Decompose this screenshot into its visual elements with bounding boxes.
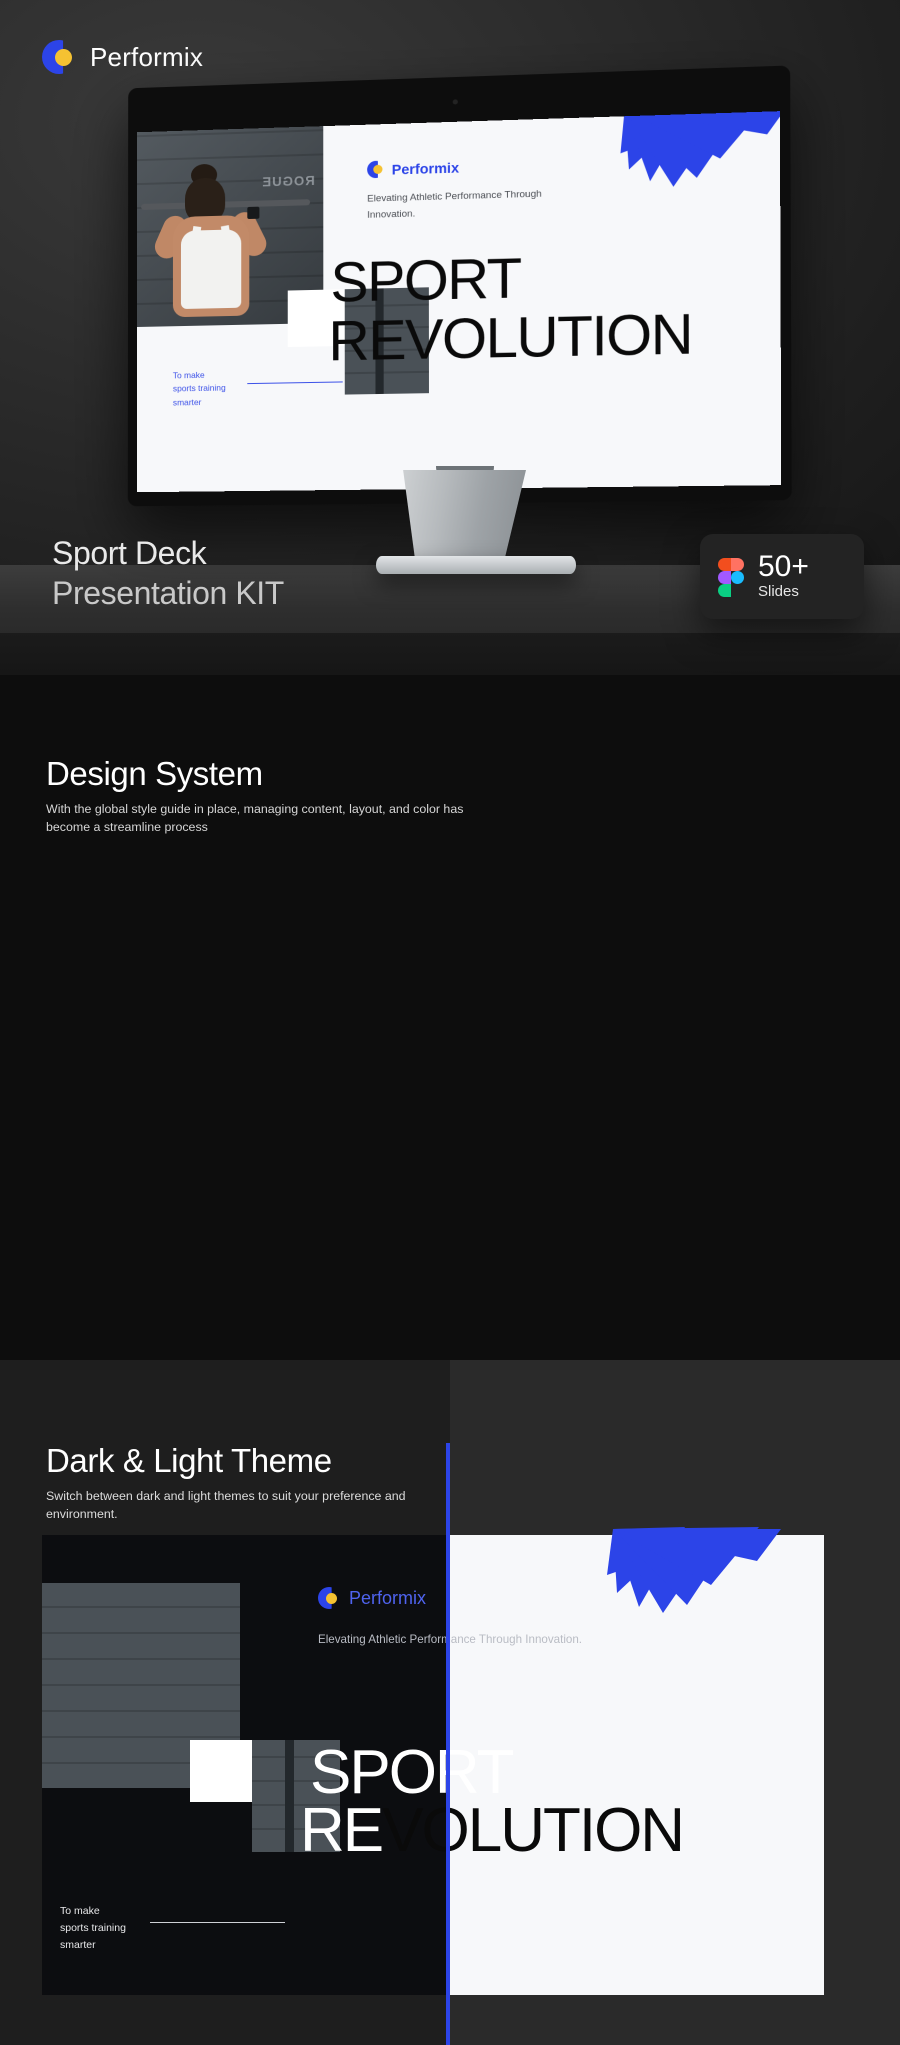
presentation-kit-page: Performix: [0, 0, 900, 2045]
theme-split-divider: [446, 1443, 450, 2045]
hero-section: Performix: [0, 0, 900, 675]
slides-count-badge: 50+ Slides: [700, 534, 864, 619]
accent-square-bar: [285, 1740, 294, 1852]
split-slide-headline-line1: SPORT: [310, 1743, 512, 1804]
performix-logo-icon: [318, 1587, 340, 1609]
headline-dark-part: RE: [300, 1796, 382, 1865]
performix-logo-icon-small: [367, 161, 384, 179]
split-slide-headline-line2: REVOLUTION: [300, 1801, 683, 1862]
rack-brand-text: ROGUE: [262, 173, 315, 190]
slide-kicker-rule: [247, 381, 342, 384]
slides-count: 50+: [758, 552, 809, 582]
theme-subtitle: Switch between dark and light themes to …: [46, 1488, 446, 1523]
design-system-subtitle: With the global style guide in place, ma…: [46, 801, 506, 836]
kicker-line-1: To make: [60, 1905, 100, 1917]
monitor-screen: ROGUE Performix Elevating Athletic Perfo…: [137, 111, 781, 492]
monitor-mockup: ROGUE Performix Elevating Athletic Perfo…: [128, 88, 768, 508]
monitor-stand-base: [376, 556, 576, 574]
design-system-title: Design System: [46, 755, 263, 793]
brand-name: Performix: [90, 42, 203, 73]
badge-text-group: 50+ Slides: [758, 552, 809, 601]
kicker-line-2: sports training: [60, 1922, 126, 1934]
slide-brand-logo: Performix: [367, 158, 459, 178]
monitor-stand-neck: [398, 470, 526, 566]
accent-square-white: [190, 1740, 252, 1802]
theme-title: Dark & Light Theme: [46, 1442, 332, 1480]
design-system-section: Design System With the global style guid…: [0, 675, 900, 1360]
split-slide-subtitle: Elevating Athletic Performance Through I…: [318, 1631, 588, 1650]
slide-kicker: To makesports trainingsmarter: [173, 368, 226, 409]
page-title-line1: Sport Deck: [52, 535, 206, 571]
slide-headline-line2: REVOLUTION: [328, 306, 692, 368]
slide-brand-name: Performix: [392, 159, 459, 177]
desk-front-edge: [0, 633, 900, 675]
split-slide-kicker-rule: [150, 1922, 285, 1923]
split-slide-brand-logo: Performix: [318, 1587, 426, 1609]
split-slide-kicker: To make sports training smarter: [60, 1903, 126, 1954]
slide-headline-line1: SPORT: [330, 250, 520, 309]
headline-light-part: VOLUTION: [382, 1796, 683, 1865]
webcam-icon: [453, 99, 458, 104]
brand-logo: Performix: [42, 40, 203, 74]
athlete-figure: [163, 166, 282, 330]
performix-logo-icon: [42, 40, 76, 74]
sunburst-graphic: [618, 111, 781, 262]
split-slide-brand-name: Performix: [349, 1588, 426, 1609]
page-title-line2: Presentation KIT: [52, 575, 284, 611]
kicker-line-3: smarter: [60, 1939, 96, 1951]
sunburst-graphic: [605, 1527, 790, 1692]
page-title: Sport Deck Presentation KIT: [52, 534, 284, 613]
slides-label: Slides: [758, 584, 809, 601]
slide-subtitle: Elevating Athletic Performance Through I…: [367, 185, 590, 223]
theme-split-slide: Performix Elevating Athletic Performance…: [42, 1535, 824, 1995]
figma-icon: [718, 558, 744, 596]
